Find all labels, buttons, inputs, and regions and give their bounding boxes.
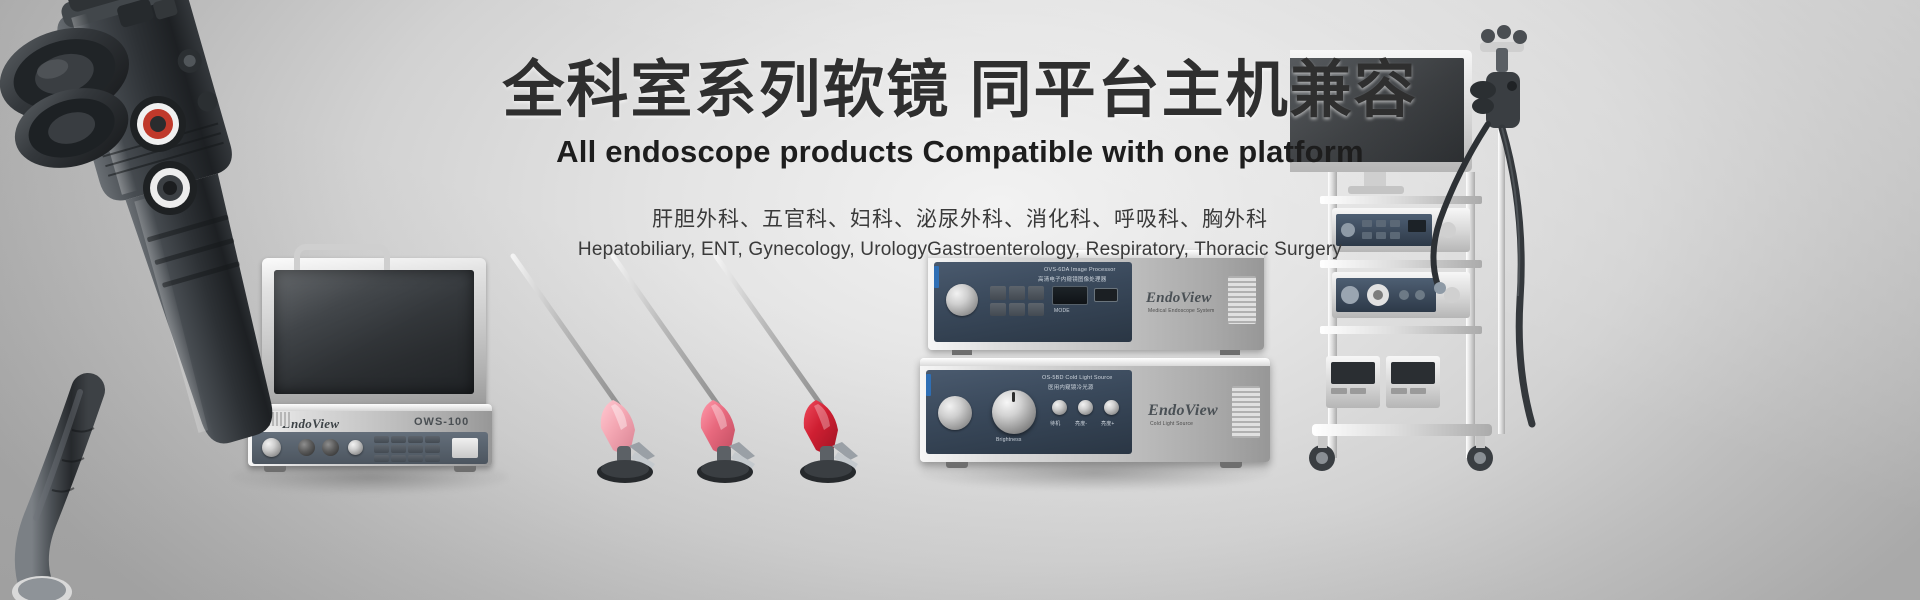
specialties-english: Hepatobiliary, ENT, Gynecology, UrologyG… [0,239,1920,261]
keypad-key[interactable] [408,445,423,452]
brightness-dial-label: Brightness [996,437,1022,443]
processor-top-vent [1228,276,1256,324]
keypad-key[interactable] [391,445,406,452]
keypad-key[interactable] [408,436,423,443]
light-source-brand: EndoView [1148,402,1218,420]
processor-top-foot-right [1220,350,1240,355]
processor-button[interactable] [1028,303,1044,317]
processor-stack: OVS-6DA Image Processor 高清电子内窥镜图像处理器 MOD… [920,250,1270,480]
light-button-2[interactable] [1078,400,1093,415]
keypad[interactable] [374,436,440,462]
light-button-3[interactable] [1104,400,1119,415]
light-button-1-label: 待机 [1050,420,1060,427]
brightness-dial-marker [1012,392,1015,402]
processor-top-foot-left [952,350,972,355]
specialties-chinese: 肝胆外科、五官科、妇科、泌尿外科、消化科、呼吸科、胸外科 [0,203,1920,233]
cart-device-2 [1332,272,1470,318]
processor-top-main-knob[interactable] [946,284,978,316]
cart-device-4 [1386,356,1440,408]
processor-button[interactable] [1028,286,1044,300]
processor-top-brand-sub: Medical Endoscope System [1148,308,1215,314]
processor-top-accent [934,266,939,288]
instrument-illustration-3 [708,250,878,490]
side-button[interactable] [452,438,478,458]
light-output-port[interactable] [938,396,972,430]
cold-light-source-unit: OS-5BD Cold Light Source 医用内窥镜冷光源 Bright… [920,358,1270,462]
light-button-1[interactable] [1052,400,1067,415]
processor-button[interactable] [1009,286,1025,300]
headline-group: 全科室系列软镜 同平台主机兼容 All endoscope products C… [0,56,1920,261]
keypad-key[interactable] [391,455,406,462]
image-processor-unit: OVS-6DA Image Processor 高清电子内窥镜图像处理器 MOD… [928,250,1264,350]
processor-top-display [1052,286,1088,305]
light-source-foot-right [1220,462,1242,468]
processor-button[interactable] [990,286,1006,300]
headline-english: All endoscope products Compatible with o… [0,133,1920,170]
processor-top-button-group[interactable] [990,286,1044,316]
light-source-accent [926,374,931,396]
keypad-key[interactable] [391,436,406,443]
keypad-key[interactable] [425,436,440,443]
processor-top-label-cn: 高清电子内窥镜图像处理器 [1038,275,1106,283]
workstation-model: OWS-100 [414,416,469,428]
keypad-key[interactable] [374,445,389,452]
processor-button[interactable] [990,303,1006,317]
keypad-key[interactable] [374,455,389,462]
processor-top-brand: EndoView [1146,290,1212,307]
keypad-key[interactable] [374,436,389,443]
light-source-foot-left [946,462,968,468]
light-button-3-label: 亮度+ [1101,420,1115,427]
light-source-label-cn: 医用内窥镜冷光源 [1048,383,1094,391]
keypad-key[interactable] [425,455,440,462]
keypad-key[interactable] [408,455,423,462]
headline-chinese: 全科室系列软镜 同平台主机兼容 [0,56,1920,125]
light-source-label-en: OS-5BD Cold Light Source [1042,375,1113,381]
promotional-banner: 全科室系列软镜 同平台主机兼容 All endoscope products C… [0,0,1920,600]
processor-button[interactable] [1009,303,1025,317]
light-source-vent [1232,386,1260,438]
processor-top-usb-port[interactable] [1094,288,1118,302]
surgical-instrument-red [708,250,878,490]
light-source-lip [920,358,1270,366]
base-foot-right [454,466,476,472]
light-button-2-label: 亮度- [1075,420,1087,427]
cart-device-3 [1326,356,1380,408]
processor-top-small-text: MODE [1054,308,1070,314]
processor-top-label-en: OVS-6DA Image Processor [1044,267,1116,273]
light-source-brand-sub: Cold Light Source [1150,421,1193,427]
keypad-key[interactable] [425,445,440,452]
